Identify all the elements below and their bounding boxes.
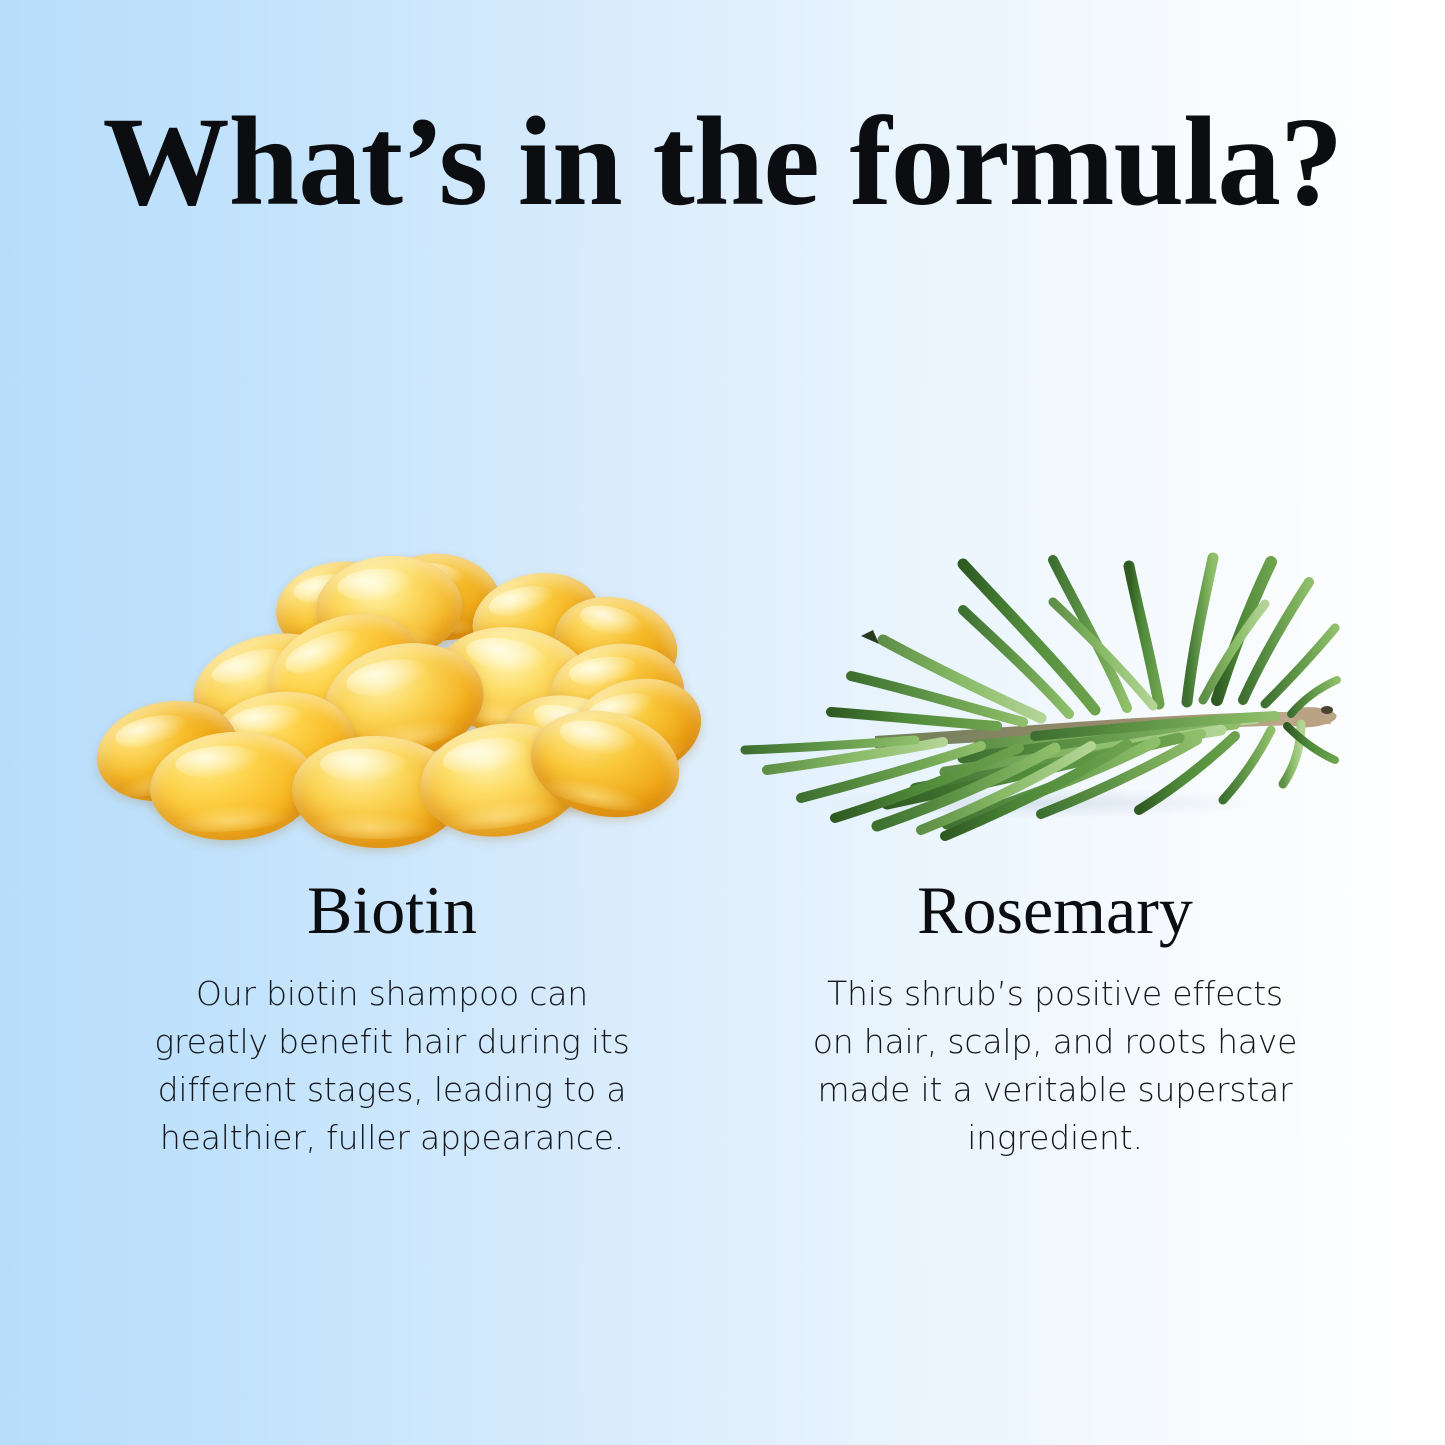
ingredient-title-biotin: Biotin: [62, 876, 722, 944]
rosemary-sprig-icon: [735, 500, 1375, 860]
biotin-image-stage: [62, 500, 722, 870]
ingredient-description-biotin: Our biotin shampoo can greatly benefit h…: [151, 970, 633, 1162]
ingredient-description-rosemary: This shrub’s positive effects on hair, s…: [805, 970, 1305, 1162]
biotin-capsules-icon: [80, 552, 704, 842]
formula-ingredients-poster: What’s in the formula?: [0, 0, 1445, 1445]
ingredient-card-biotin: Biotin Our biotin shampoo can greatly be…: [62, 500, 722, 1260]
ingredient-card-rosemary: Rosemary This shrub’s positive effects o…: [725, 500, 1385, 1260]
page-title: What’s in the formula?: [0, 96, 1445, 229]
rosemary-image-stage: [725, 500, 1385, 870]
ingredient-title-rosemary: Rosemary: [725, 876, 1385, 944]
